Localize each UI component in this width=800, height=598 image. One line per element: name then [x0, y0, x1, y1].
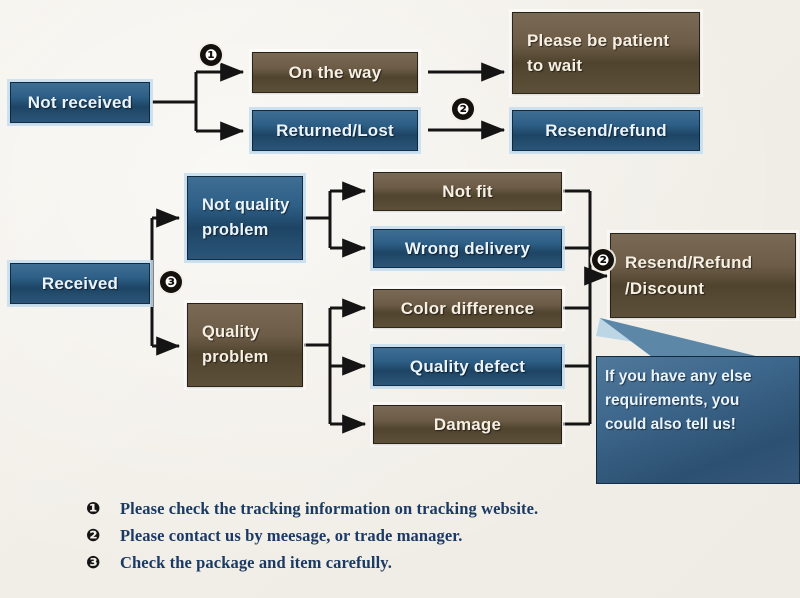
legend: ❶ Please check the tracking information …: [86, 495, 746, 576]
node-label-line-2: problem: [188, 218, 303, 243]
callout-tail: [596, 318, 766, 360]
node-wrong-delivery[interactable]: Wrong delivery: [373, 229, 562, 268]
legend-text-1: Please check the tracking information on…: [120, 499, 538, 519]
node-label: Returned/Lost: [253, 118, 417, 144]
node-quality-problem[interactable]: Quality problem: [187, 303, 303, 387]
node-label: Wrong delivery: [374, 236, 561, 262]
node-label-line-1: Quality: [188, 320, 303, 345]
legend-item: ❷ Please contact us by meesage, or trade…: [86, 522, 746, 549]
callout-line-2: requirements, you: [605, 389, 793, 413]
node-label: On the way: [253, 60, 417, 86]
marker-2-returned-lost: ❷: [452, 98, 474, 120]
legend-text-2: Please contact us by meesage, or trade m…: [120, 526, 462, 546]
legend-marker-2: ❷: [86, 526, 120, 546]
node-label-line-1: Not quality: [188, 193, 303, 218]
node-label: Not received: [11, 90, 149, 116]
node-label-line-1: Please be patient: [513, 28, 700, 54]
marker-3-received: ❸: [160, 271, 182, 293]
node-label: Received: [11, 271, 149, 297]
legend-marker-1: ❶: [86, 499, 120, 519]
node-label-line-2: to wait: [513, 53, 700, 79]
node-label: Damage: [374, 412, 561, 438]
node-label: Quality defect: [374, 354, 561, 380]
callout-line-1: If you have any else: [605, 365, 793, 389]
callout-bubble: If you have any else requirements, you c…: [596, 356, 800, 484]
node-resend-refund-discount[interactable]: Resend/Refund /Discount: [610, 233, 796, 318]
node-damage[interactable]: Damage: [373, 405, 562, 444]
node-label-line-1: Resend/Refund: [611, 250, 796, 276]
flowchart-canvas: Not received ❶ On the way Returned/Lost …: [0, 0, 800, 598]
legend-marker-3: ❸: [86, 553, 120, 573]
node-returned-lost[interactable]: Returned/Lost: [252, 110, 418, 151]
marker-1-not-received: ❶: [200, 44, 222, 66]
node-label-line-2: /Discount: [611, 276, 796, 302]
callout-line-3: could also tell us!: [605, 413, 793, 437]
legend-item: ❶ Please check the tracking information …: [86, 495, 746, 522]
node-resend-refund[interactable]: Resend/refund: [512, 110, 700, 151]
node-color-difference[interactable]: Color difference: [373, 289, 562, 328]
node-please-be-patient[interactable]: Please be patient to wait: [512, 12, 700, 94]
node-label: Resend/refund: [513, 118, 699, 144]
node-not-fit[interactable]: Not fit: [373, 172, 562, 211]
legend-text-3: Check the package and item carefully.: [120, 553, 392, 573]
node-label: Not fit: [374, 179, 561, 205]
node-received[interactable]: Received: [10, 263, 150, 304]
marker-2-resend-refund-discount: ❷: [592, 249, 614, 271]
node-not-quality-problem[interactable]: Not quality problem: [187, 176, 303, 260]
node-on-the-way[interactable]: On the way: [252, 52, 418, 93]
node-label: Color difference: [374, 296, 561, 322]
node-quality-defect[interactable]: Quality defect: [373, 347, 562, 386]
node-not-received[interactable]: Not received: [10, 82, 150, 123]
legend-item: ❸ Check the package and item carefully.: [86, 549, 746, 576]
node-label-line-2: problem: [188, 345, 303, 370]
